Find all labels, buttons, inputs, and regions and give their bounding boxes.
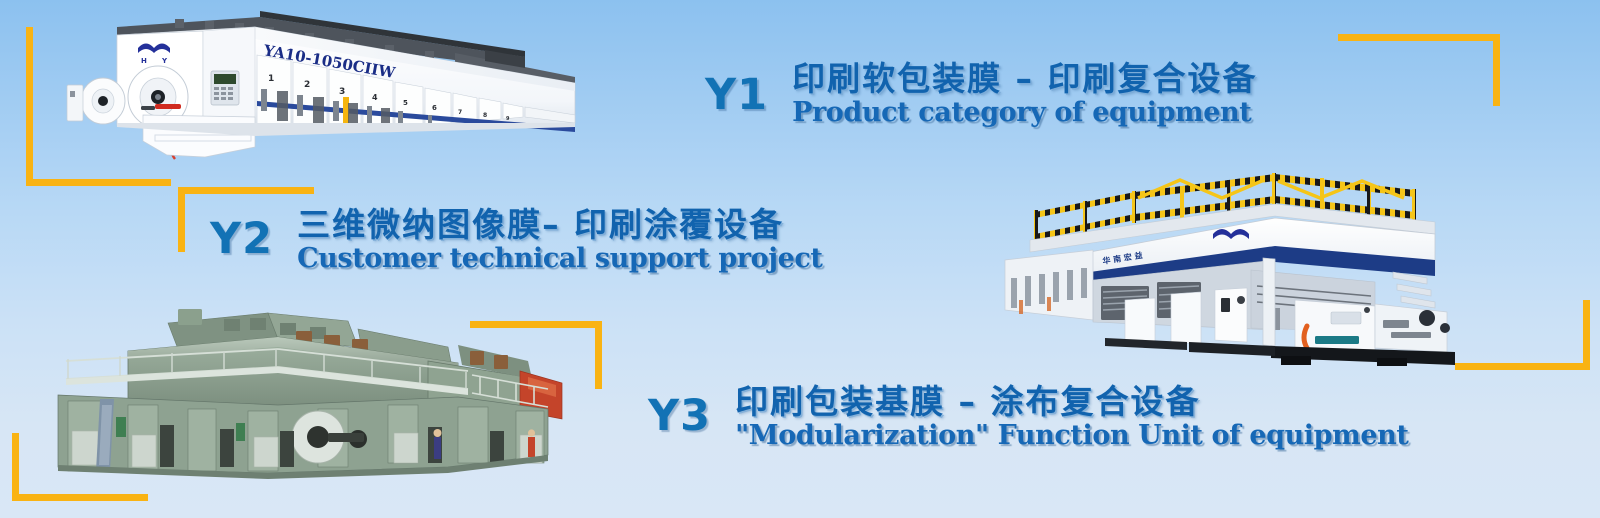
banner-stage: H Y YA10-1050CIIW 123 45	[0, 0, 1600, 518]
product-title-en-y1: Product category of equipment	[792, 99, 1257, 127]
svg-text:9: 9	[506, 116, 510, 122]
svg-text:2: 2	[304, 80, 310, 90]
product-title-cn-y1: 印刷软包装膜 – 印刷复合设备	[792, 62, 1257, 97]
svg-text:4: 4	[372, 93, 378, 102]
machine-coating-laminating-machine: 华 南 宏 益 YATFG-1650BII	[975, 160, 1520, 370]
machine-rotogravure-printing-press: H Y YA10-1050CIIW 123 45	[55, 5, 610, 170]
bracket-y3-left-vertical	[12, 433, 19, 501]
bracket-y2-right-horizontal	[1455, 363, 1590, 370]
bracket-y1-horizontal	[26, 179, 171, 186]
product-title-cn-y2: 三维微纳图像膜– 印刷涂覆设备	[297, 208, 822, 243]
product-title-cn-y3: 印刷包装基膜 – 涂布复合设备	[735, 385, 1408, 420]
bracket-y3-left-horizontal	[12, 494, 148, 501]
product-code-y3: Y3	[648, 395, 711, 438]
bracket-y1-vertical	[26, 27, 33, 182]
product-line-row-y2: Y2 三维微纳图像膜– 印刷涂覆设备 Customer technical su…	[210, 208, 823, 273]
product-code-y1: Y1	[705, 74, 768, 117]
product-title-group-y3: 印刷包装基膜 – 涂布复合设备 "Modularization" Functio…	[735, 385, 1408, 450]
machine-coating-production-line	[28, 305, 573, 490]
product-title-en-y3: "Modularization" Function Unit of equipm…	[735, 422, 1408, 450]
product-line-row-y1: Y1 印刷软包装膜 – 印刷复合设备 Product category of e…	[705, 62, 1258, 127]
svg-text:Y: Y	[161, 57, 168, 65]
bracket-y3-horizontal	[470, 321, 602, 328]
bracket-y1-right-vertical	[1493, 34, 1500, 106]
product-title-en-y2: Customer technical support project	[297, 245, 822, 273]
svg-text:8: 8	[483, 112, 487, 119]
svg-text:6: 6	[432, 104, 437, 112]
bracket-y3-vertical	[595, 321, 602, 389]
svg-text:7: 7	[458, 109, 462, 116]
bracket-y2-right-vertical	[1583, 300, 1590, 370]
bracket-y1-right-horizontal	[1338, 34, 1500, 41]
product-line-row-y3: Y3 印刷包装基膜 – 涂布复合设备 "Modularization" Func…	[648, 385, 1408, 450]
svg-text:3: 3	[339, 87, 345, 97]
product-code-y2: Y2	[210, 218, 273, 261]
product-title-group-y2: 三维微纳图像膜– 印刷涂覆设备 Customer technical suppo…	[297, 208, 822, 273]
svg-text:1: 1	[268, 74, 274, 84]
bracket-y2-vertical	[178, 187, 185, 252]
svg-text:5: 5	[403, 99, 408, 107]
bracket-y2-horizontal	[178, 187, 314, 194]
product-title-group-y1: 印刷软包装膜 – 印刷复合设备 Product category of equi…	[792, 62, 1257, 127]
svg-text:H: H	[141, 57, 147, 65]
